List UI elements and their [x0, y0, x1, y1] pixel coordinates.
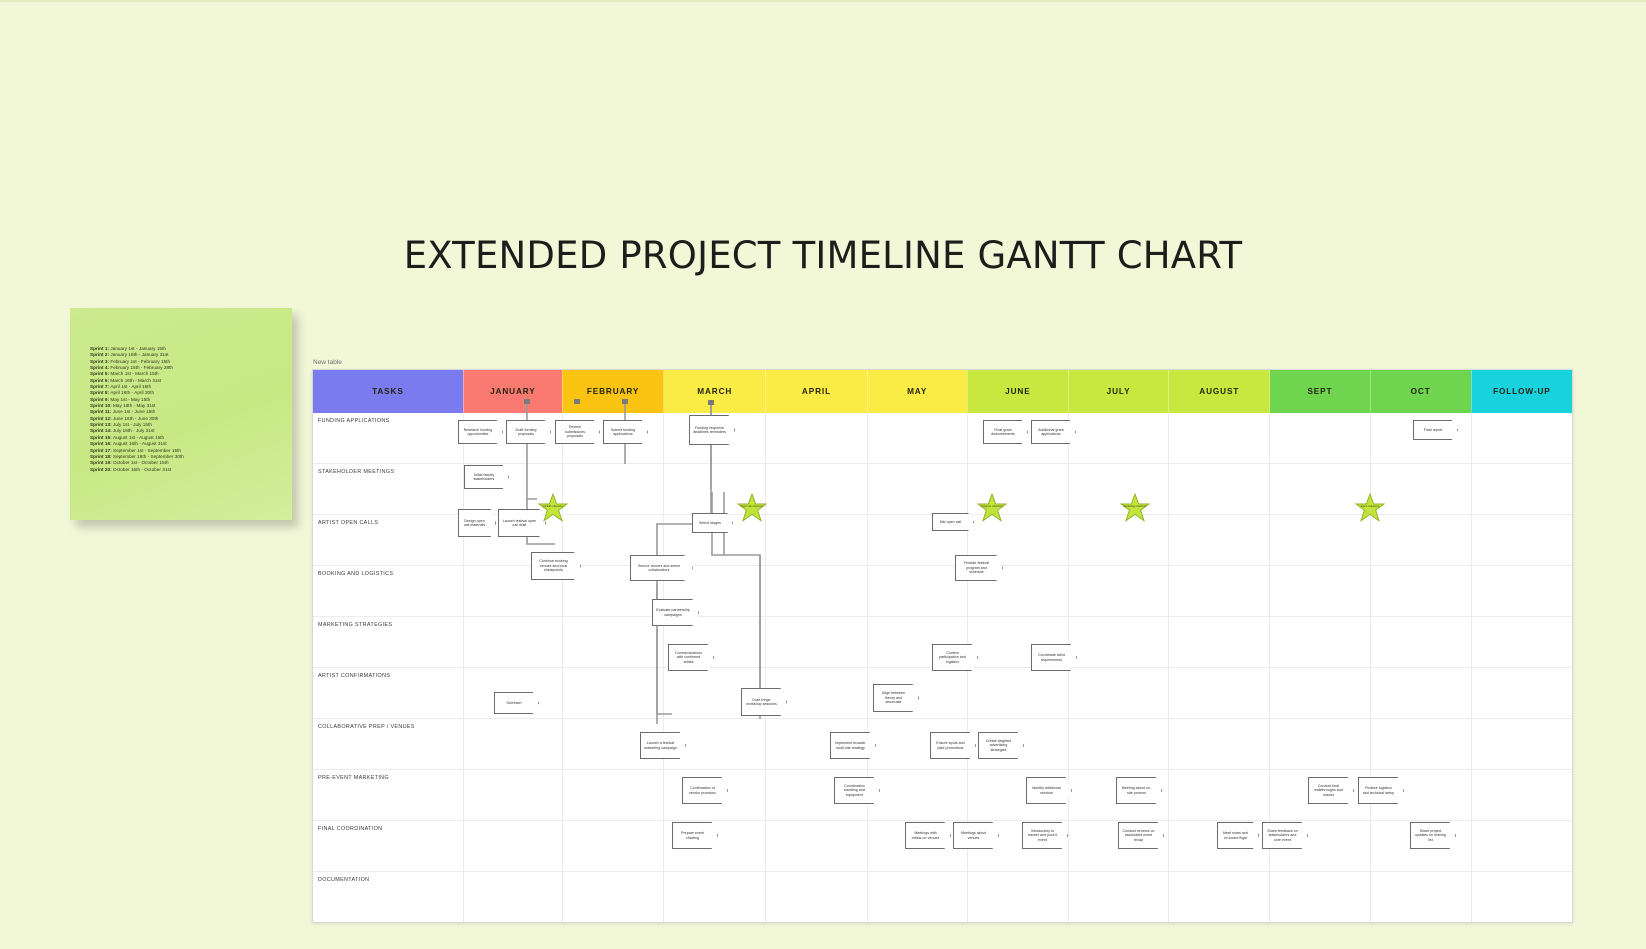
timeline-cell[interactable] — [1068, 872, 1168, 923]
table-row: PRE-EVENT MARKETING — [313, 770, 1572, 821]
timeline-cell[interactable] — [1471, 413, 1572, 464]
column-header-follow-up[interactable]: FOLLOW-UP — [1471, 370, 1572, 413]
row-label-cell[interactable]: PRE-EVENT MARKETING — [313, 770, 463, 821]
timeline-cell[interactable] — [867, 668, 967, 719]
row-label: ARTIST OPEN CALLS — [314, 516, 462, 526]
row-label-cell[interactable]: COLLABORATIVE PREP / VENUES — [313, 719, 463, 770]
column-header-label: APRIL — [802, 387, 831, 396]
timeline-cell[interactable] — [967, 413, 1068, 464]
timeline-cell[interactable] — [1270, 566, 1370, 617]
timeline-cell[interactable] — [967, 464, 1068, 515]
timeline-cell[interactable] — [463, 566, 562, 617]
column-header-july[interactable]: JULY — [1068, 370, 1168, 413]
timeline-cell[interactable] — [664, 413, 766, 464]
sprint-label: Sprint 13: — [90, 422, 113, 427]
timeline-cell[interactable] — [562, 872, 663, 923]
timeline-cell[interactable] — [562, 617, 663, 668]
table-row: FINAL COORDINATION — [313, 821, 1572, 872]
timeline-cell[interactable] — [766, 872, 867, 923]
timeline-cell[interactable] — [1471, 719, 1572, 770]
timeline-cell[interactable] — [1068, 515, 1168, 566]
timeline-cell[interactable] — [463, 668, 562, 719]
sprint-label: Sprint 8: — [90, 390, 110, 395]
sprint-label: Sprint 3: — [90, 359, 110, 364]
sprint-range: October 1st - October 15th — [113, 460, 169, 465]
sprint-range: September 1st - September 15th — [113, 448, 181, 453]
timeline-cell[interactable] — [867, 821, 967, 872]
timeline-cell[interactable] — [967, 566, 1068, 617]
table-row: BOOKING AND LOGISTICS — [313, 566, 1572, 617]
row-label: DOCUMENTATION — [314, 873, 462, 883]
row-label-cell[interactable]: BOOKING AND LOGISTICS — [313, 566, 463, 617]
gantt-canvas: Sprint 1: January 1st - January 15thSpri… — [0, 0, 1646, 949]
timeline-cell[interactable] — [463, 872, 562, 923]
timeline-cell[interactable] — [1068, 719, 1168, 770]
row-label: FINAL COORDINATION — [314, 822, 462, 832]
timeline-cell[interactable] — [463, 770, 562, 821]
table-row: DOCUMENTATION — [313, 872, 1572, 923]
column-header-february[interactable]: FEBRUARY — [562, 370, 663, 413]
timeline-cell[interactable] — [766, 413, 867, 464]
timeline-cell[interactable] — [967, 617, 1068, 668]
timeline-cell[interactable] — [1270, 719, 1370, 770]
row-label: MARKETING STRATEGIES — [314, 618, 462, 628]
timeline-cell[interactable] — [664, 617, 766, 668]
timeline-cell[interactable] — [1169, 413, 1270, 464]
sprint-label: Sprint 1: — [90, 346, 110, 351]
sprint-range: June 1st - June 15th — [113, 409, 156, 414]
timeline-cell[interactable] — [1471, 668, 1572, 719]
row-label-cell[interactable]: ARTIST OPEN CALLS — [313, 515, 463, 566]
timeline-cell[interactable] — [664, 821, 766, 872]
timeline-cell[interactable] — [1370, 872, 1471, 923]
column-header-label: JULY — [1107, 387, 1131, 396]
gantt-body: FUNDING APPLICATIONSSTAKEHOLDER MEETINGS… — [313, 413, 1572, 922]
timeline-cell[interactable] — [664, 770, 766, 821]
sprint-range: July 1st - July 15th — [113, 422, 152, 427]
timeline-cell[interactable] — [1169, 821, 1270, 872]
sprint-label: Sprint 6: — [90, 378, 110, 383]
timeline-cell[interactable] — [1471, 872, 1572, 923]
timeline-cell[interactable] — [867, 770, 967, 821]
timeline-cell[interactable] — [1068, 617, 1168, 668]
timeline-cell[interactable] — [867, 413, 967, 464]
timeline-cell[interactable] — [1471, 770, 1572, 821]
row-label-cell[interactable]: STAKEHOLDER MEETINGS — [313, 464, 463, 515]
timeline-cell[interactable] — [766, 617, 867, 668]
timeline-cell[interactable] — [766, 464, 867, 515]
gantt-grid: TASKSJANUARYFEBRUARYMARCHAPRILMAYJUNEJUL… — [313, 370, 1572, 922]
timeline-cell[interactable] — [867, 617, 967, 668]
sprint-range: August 16th - August 31st — [113, 441, 167, 446]
row-label: FUNDING APPLICATIONS — [314, 414, 462, 424]
timeline-cell[interactable] — [1270, 872, 1370, 923]
gantt-table: TASKSJANUARYFEBRUARYMARCHAPRILMAYJUNEJUL… — [312, 369, 1573, 923]
sprint-label: Sprint 2: — [90, 352, 110, 357]
timeline-cell[interactable] — [1169, 872, 1270, 923]
timeline-cell[interactable] — [1471, 464, 1572, 515]
sprint-range: February 16th - February 28th — [110, 365, 173, 370]
table-row: ARTIST CONFIRMATIONS — [313, 668, 1572, 719]
timeline-cell[interactable] — [664, 668, 766, 719]
sprint-label: Sprint 14: — [90, 428, 113, 433]
row-label-cell[interactable]: MARKETING STRATEGIES — [313, 617, 463, 668]
timeline-cell[interactable] — [463, 719, 562, 770]
page-title: EXTENDED PROJECT TIMELINE GANTT CHART — [0, 234, 1646, 277]
column-header-label: MAY — [907, 387, 927, 396]
sprint-label: Sprint 10: — [90, 403, 113, 408]
sprint-range: September 16th - September 30th — [113, 454, 184, 459]
table-row: STAKEHOLDER MEETINGS — [313, 464, 1572, 515]
timeline-cell[interactable] — [1370, 719, 1471, 770]
timeline-cell[interactable] — [1169, 668, 1270, 719]
column-header-june[interactable]: JUNE — [967, 370, 1068, 413]
timeline-cell[interactable] — [1169, 719, 1270, 770]
column-header-sept[interactable]: SEPT — [1270, 370, 1370, 413]
row-label-cell[interactable]: FUNDING APPLICATIONS — [313, 413, 463, 464]
timeline-cell[interactable] — [967, 515, 1068, 566]
timeline-cell[interactable] — [1169, 617, 1270, 668]
timeline-cell[interactable] — [664, 719, 766, 770]
timeline-cell[interactable] — [562, 413, 663, 464]
timeline-cell[interactable] — [1068, 566, 1168, 617]
timeline-cell[interactable] — [562, 464, 663, 515]
table-row: ARTIST OPEN CALLS — [313, 515, 1572, 566]
timeline-cell[interactable] — [463, 413, 562, 464]
sprint-label: Sprint 7: — [90, 384, 110, 389]
timeline-cell[interactable] — [1370, 821, 1471, 872]
column-header-label: OCT — [1411, 387, 1431, 396]
timeline-cell[interactable] — [562, 821, 663, 872]
sprint-range: June 16th - June 30th — [113, 416, 158, 421]
timeline-cell[interactable] — [1270, 413, 1370, 464]
sprint-item: Sprint 20: October 16th - October 31st — [90, 467, 280, 473]
sprint-label: Sprint 18: — [90, 454, 113, 459]
row-label-cell[interactable]: ARTIST CONFIRMATIONS — [313, 668, 463, 719]
timeline-cell[interactable] — [562, 566, 663, 617]
column-header-label: FOLLOW-UP — [1493, 387, 1551, 396]
column-header-january[interactable]: JANUARY — [463, 370, 562, 413]
column-header-may[interactable]: MAY — [867, 370, 967, 413]
column-header-tasks[interactable]: TASKS — [313, 370, 463, 413]
timeline-cell[interactable] — [1068, 464, 1168, 515]
column-header-label: TASKS — [372, 387, 404, 396]
timeline-cell[interactable] — [1068, 821, 1168, 872]
timeline-cell[interactable] — [1270, 464, 1370, 515]
sprint-range: August 1st - August 15th — [113, 435, 164, 440]
timeline-cell[interactable] — [766, 668, 867, 719]
table-row: COLLABORATIVE PREP / VENUES — [313, 719, 1572, 770]
timeline-cell[interactable] — [562, 719, 663, 770]
sprint-range: May 1st - May 15th — [110, 397, 150, 402]
timeline-cell[interactable] — [664, 872, 766, 923]
timeline-cell[interactable] — [1169, 566, 1270, 617]
timeline-cell[interactable] — [1370, 617, 1471, 668]
timeline-cell[interactable] — [867, 515, 967, 566]
sprint-range: January 1st - January 15th — [110, 346, 166, 351]
timeline-cell[interactable] — [1370, 413, 1471, 464]
column-header-label: SEPT — [1307, 387, 1332, 396]
timeline-cell[interactable] — [1068, 668, 1168, 719]
row-label: STAKEHOLDER MEETINGS — [314, 465, 462, 475]
sprint-range: July 16th - July 31st — [113, 428, 155, 433]
column-header-label: MARCH — [697, 387, 732, 396]
timeline-cell[interactable] — [1471, 617, 1572, 668]
timeline-cell[interactable] — [562, 668, 663, 719]
timeline-cell[interactable] — [1471, 515, 1572, 566]
column-header-label: FEBRUARY — [587, 387, 639, 396]
timeline-cell[interactable] — [463, 617, 562, 668]
timeline-cell[interactable] — [1270, 821, 1370, 872]
timeline-cell[interactable] — [867, 872, 967, 923]
timeline-cell[interactable] — [867, 719, 967, 770]
timeline-cell[interactable] — [1370, 770, 1471, 821]
timeline-cell[interactable] — [562, 770, 663, 821]
sprint-label: Sprint 15: — [90, 435, 113, 440]
column-header-label: JUNE — [1005, 387, 1030, 396]
row-label: PRE-EVENT MARKETING — [314, 771, 462, 781]
timeline-cell[interactable] — [463, 821, 562, 872]
timeline-cell[interactable] — [967, 668, 1068, 719]
timeline-cell[interactable] — [766, 821, 867, 872]
sticky-note[interactable]: Sprint 1: January 1st - January 15thSpri… — [70, 308, 292, 520]
timeline-cell[interactable] — [1370, 464, 1471, 515]
sprint-label: Sprint 16: — [90, 441, 113, 446]
timeline-cell[interactable] — [967, 719, 1068, 770]
sprint-range: May 16th - May 31st — [113, 403, 156, 408]
row-label-cell[interactable]: DOCUMENTATION — [313, 872, 463, 923]
sprint-range: January 16th - January 31st — [110, 352, 168, 357]
row-label: BOOKING AND LOGISTICS — [314, 567, 462, 577]
timeline-cell[interactable] — [1270, 668, 1370, 719]
timeline-cell[interactable] — [867, 464, 967, 515]
timeline-cell[interactable] — [1169, 515, 1270, 566]
timeline-cell[interactable] — [664, 464, 766, 515]
timeline-cell[interactable] — [766, 566, 867, 617]
sprint-label: Sprint 20: — [90, 467, 113, 472]
timeline-cell[interactable] — [766, 770, 867, 821]
sprint-schedule-list: Sprint 1: January 1st - January 15thSpri… — [90, 346, 280, 473]
timeline-cell[interactable] — [1169, 770, 1270, 821]
timeline-cell[interactable] — [463, 515, 562, 566]
timeline-cell[interactable] — [1068, 413, 1168, 464]
column-header-april[interactable]: APRIL — [766, 370, 867, 413]
row-label: ARTIST CONFIRMATIONS — [314, 669, 462, 679]
timeline-cell[interactable] — [1370, 668, 1471, 719]
timeline-cell[interactable] — [766, 515, 867, 566]
table-row: FUNDING APPLICATIONS — [313, 413, 1572, 464]
timeline-cell[interactable] — [1471, 821, 1572, 872]
sprint-label: Sprint 19: — [90, 460, 113, 465]
table-caption: New table — [313, 359, 342, 366]
timeline-cell[interactable] — [766, 719, 867, 770]
gantt-header-row: TASKSJANUARYFEBRUARYMARCHAPRILMAYJUNEJUL… — [313, 370, 1572, 413]
timeline-cell[interactable] — [1270, 515, 1370, 566]
sprint-range: April 1st - April 15th — [110, 384, 151, 389]
sprint-range: March 1st - March 15th — [110, 371, 158, 376]
column-header-label: JANUARY — [490, 387, 536, 396]
timeline-cell[interactable] — [1471, 566, 1572, 617]
sprint-range: April 16th - April 30th — [110, 390, 154, 395]
timeline-cell[interactable] — [1270, 770, 1370, 821]
sprint-label: Sprint 5: — [90, 371, 110, 376]
timeline-cell[interactable] — [967, 872, 1068, 923]
timeline-cell[interactable] — [1270, 617, 1370, 668]
sprint-range: March 16th - March 31st — [110, 378, 161, 383]
timeline-cell[interactable] — [562, 515, 663, 566]
sprint-label: Sprint 17: — [90, 448, 113, 453]
timeline-cell[interactable] — [1068, 770, 1168, 821]
sprint-label: Sprint 9: — [90, 397, 110, 402]
column-header-label: AUGUST — [1199, 387, 1239, 396]
timeline-cell[interactable] — [1370, 566, 1471, 617]
timeline-cell[interactable] — [967, 770, 1068, 821]
sprint-label: Sprint 4: — [90, 365, 110, 370]
timeline-cell[interactable] — [664, 566, 766, 617]
column-header-august[interactable]: AUGUST — [1169, 370, 1270, 413]
timeline-cell[interactable] — [463, 464, 562, 515]
row-label: COLLABORATIVE PREP / VENUES — [314, 720, 462, 730]
timeline-cell[interactable] — [664, 515, 766, 566]
sprint-label: Sprint 12: — [90, 416, 113, 421]
row-label-cell[interactable]: FINAL COORDINATION — [313, 821, 463, 872]
column-header-oct[interactable]: OCT — [1370, 370, 1471, 413]
sprint-range: October 16th - October 31st — [113, 467, 171, 472]
timeline-cell[interactable] — [867, 566, 967, 617]
table-row: MARKETING STRATEGIES — [313, 617, 1572, 668]
timeline-cell[interactable] — [1370, 515, 1471, 566]
timeline-cell[interactable] — [1169, 464, 1270, 515]
column-header-march[interactable]: MARCH — [664, 370, 766, 413]
sprint-range: February 1st - February 15th — [110, 359, 170, 364]
timeline-cell[interactable] — [967, 821, 1068, 872]
sprint-label: Sprint 11: — [90, 409, 113, 414]
